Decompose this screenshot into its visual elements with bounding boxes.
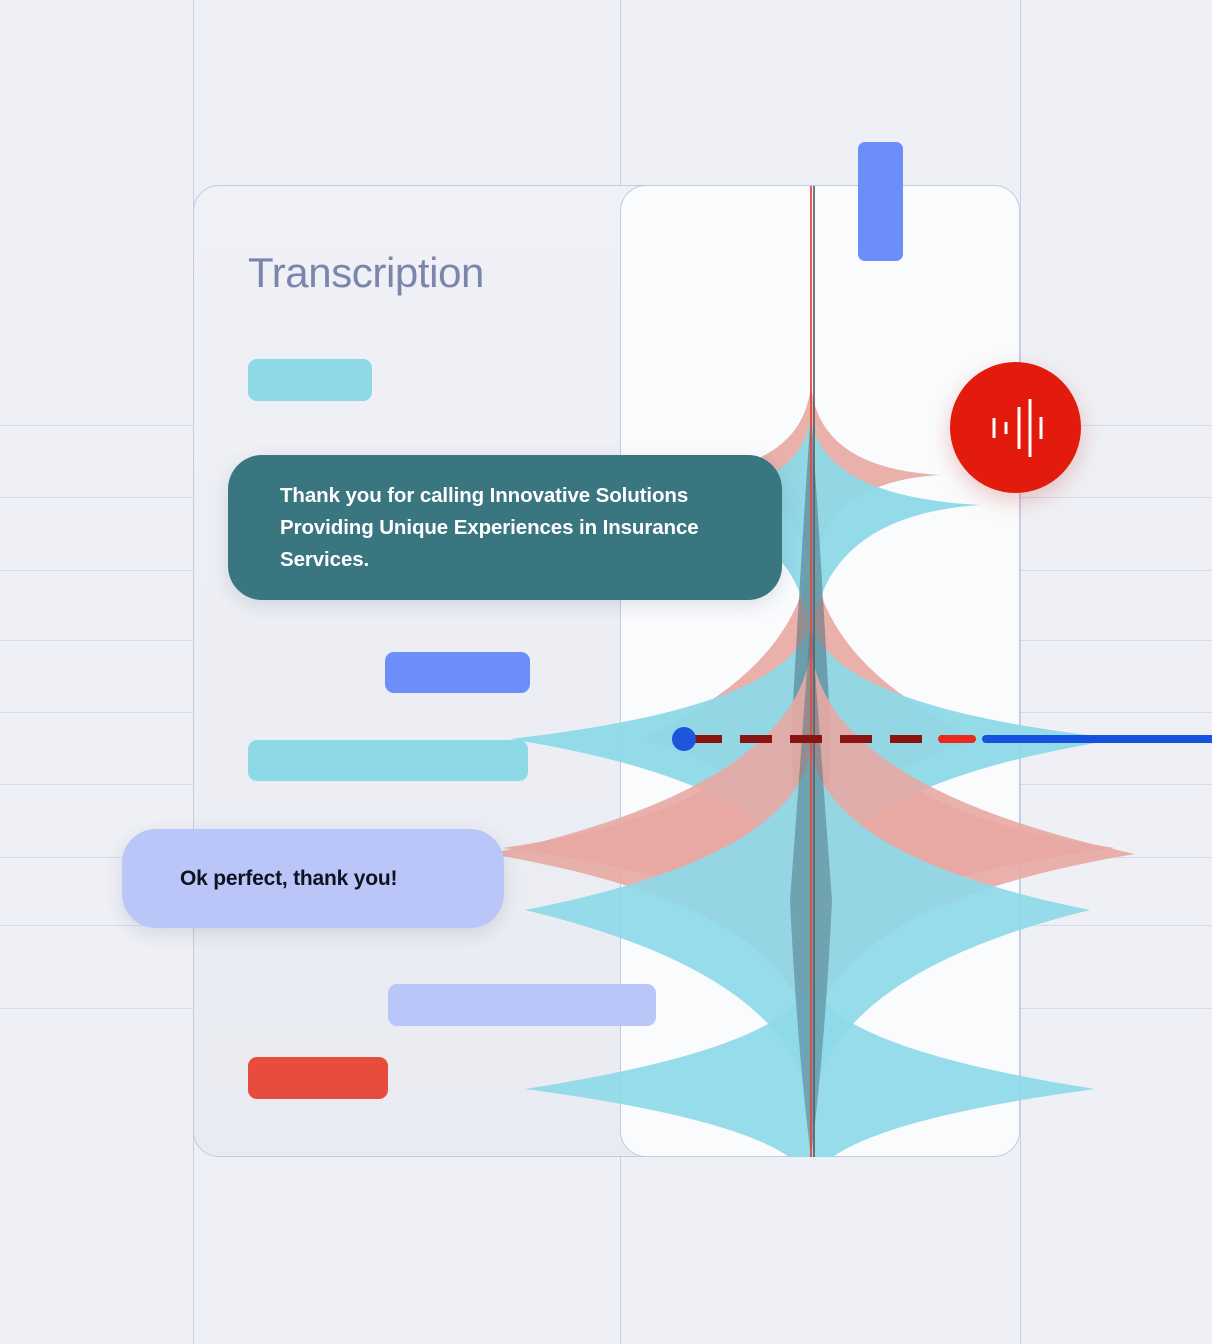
playhead-ruler-dark	[813, 186, 815, 1157]
agent-message-bubble[interactable]: Thank you for calling Innovative Solutio…	[228, 455, 782, 600]
agent-message-text: Thank you for calling Innovative Solutio…	[280, 480, 740, 576]
segment-marker[interactable]	[858, 142, 903, 261]
user-message-text: Ok perfect, thank you!	[180, 867, 397, 891]
playhead-handle[interactable]	[672, 727, 696, 751]
selection-end-marker	[938, 735, 976, 743]
audio-waveform-icon	[986, 396, 1046, 460]
waveform-visualization-lower	[620, 186, 1020, 1157]
timeline-track[interactable]	[982, 735, 1212, 743]
selection-dashed-track[interactable]	[690, 735, 975, 743]
record-button[interactable]	[950, 362, 1081, 493]
playhead-ruler-red	[810, 186, 812, 1157]
user-message-bubble[interactable]: Ok perfect, thank you!	[122, 829, 504, 928]
app-root: Transcription	[0, 0, 1212, 1344]
